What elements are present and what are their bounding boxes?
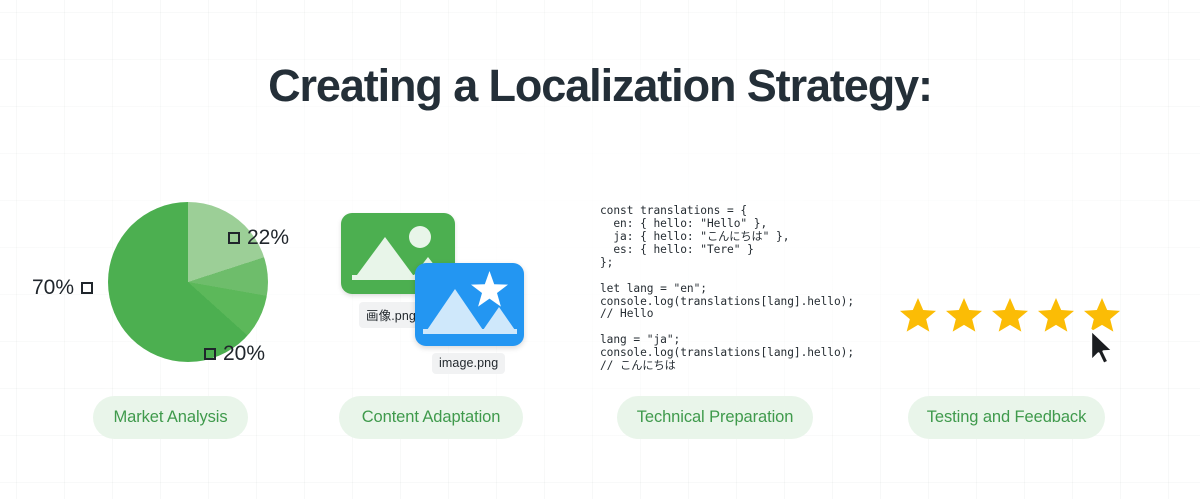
square-outline-icon [228,232,240,244]
star-rating[interactable] [898,295,1122,335]
pie-chart-column: 70% 22% 20% [20,150,320,380]
pie-label-20-text: 20% [223,342,265,366]
star-icon[interactable] [898,295,938,335]
file-label-japanese: 画像.png [359,302,423,328]
star-icon[interactable] [1082,295,1122,335]
star-icon[interactable] [990,295,1030,335]
step-pill-technical-preparation[interactable]: Technical Preparation [617,396,813,439]
pie-label-70: 70% [32,276,93,300]
pie-label-22-text: 22% [247,226,289,250]
slide-canvas: Creating a Localization Strategy: 70% 22… [0,0,1200,499]
mountain-star-image-icon [415,263,524,346]
square-outline-icon [81,282,93,294]
star-icon[interactable] [944,295,984,335]
step-pill-testing-and-feedback[interactable]: Testing and Feedback [908,396,1105,439]
pie-label-70-text: 70% [32,276,74,300]
page-title: Creating a Localization Strategy: [0,60,1200,112]
step-pill-market-analysis[interactable]: Market Analysis [93,396,248,439]
rating-column [880,150,1180,380]
file-label-english: image.png [432,353,505,374]
steps-row: Market Analysis Content Adaptation Techn… [0,396,1200,439]
square-outline-icon [204,348,216,360]
image-card-blue [415,263,524,346]
code-column: const translations = { en: { hello: "Hel… [600,150,900,380]
pie-label-20: 20% [204,342,265,366]
code-block: const translations = { en: { hello: "Hel… [600,205,854,373]
step-pill-content-adaptation[interactable]: Content Adaptation [339,396,523,439]
star-icon[interactable] [1036,295,1076,335]
pie-label-22: 22% [228,226,289,250]
image-cards-column: 画像.png image.png [320,150,600,380]
